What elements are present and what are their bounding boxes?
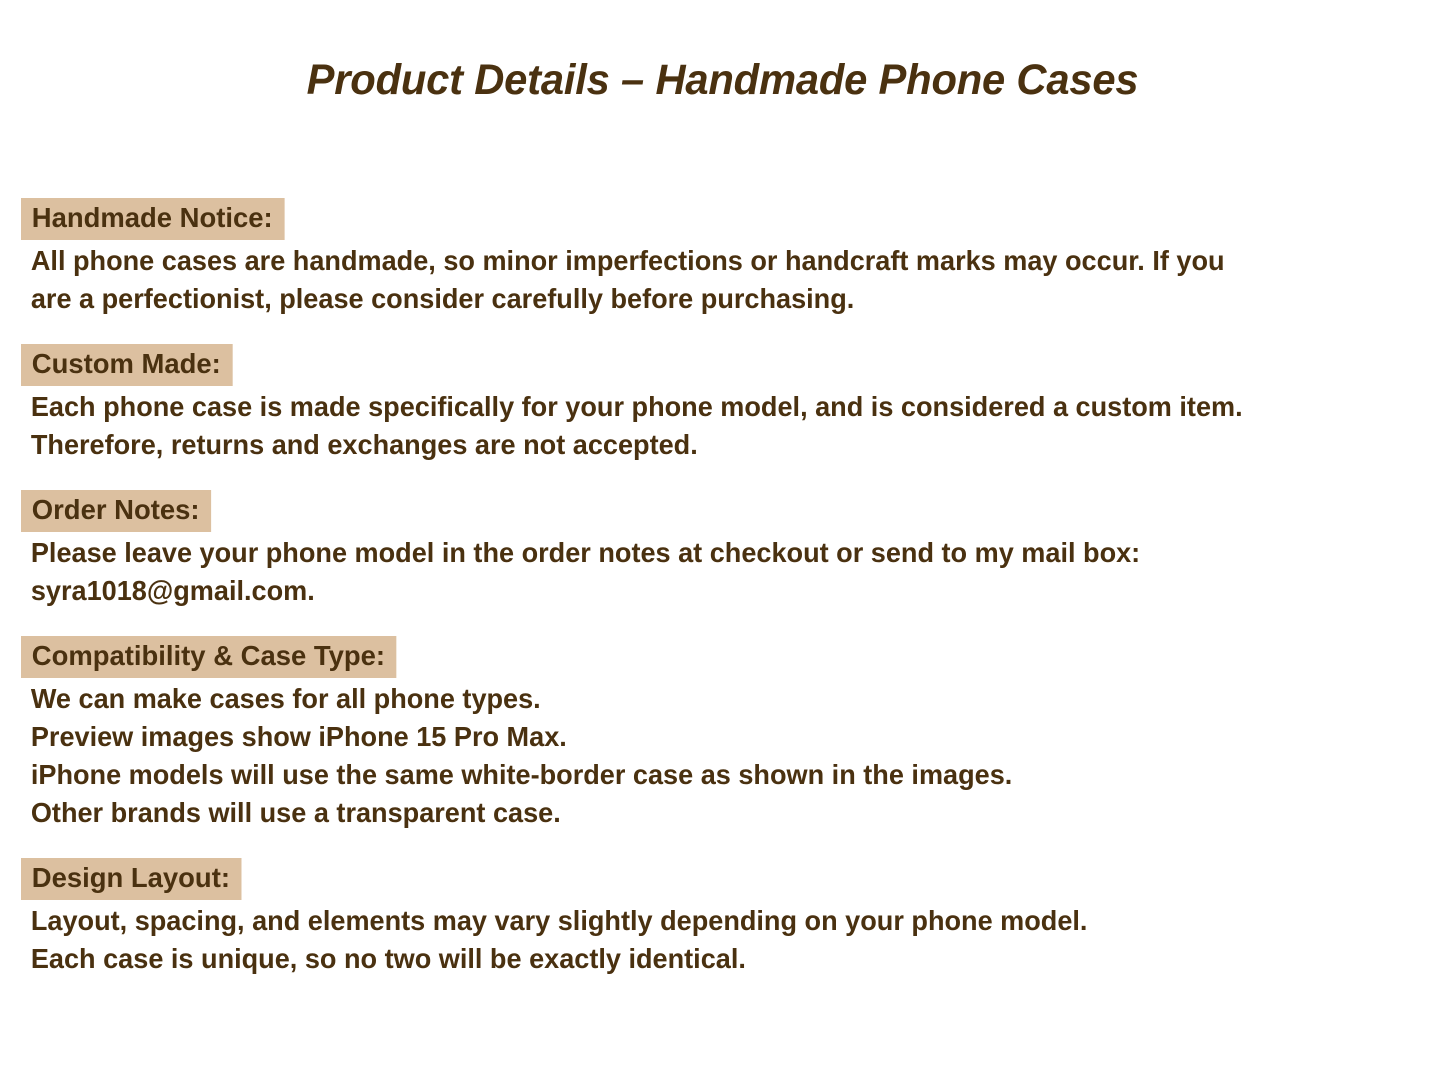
section-design-layout: Design Layout: Layout, spacing, and elem… bbox=[21, 858, 1441, 978]
contact-email-line: syra1018@gmail.com. bbox=[31, 572, 1420, 610]
body-line: Each phone case is made specifically for… bbox=[31, 388, 1420, 426]
body-line: Other brands will use a transparent case… bbox=[31, 794, 1420, 832]
body-line: We can make cases for all phone types. bbox=[31, 680, 1420, 718]
section-body-custom-made: Each phone case is made specifically for… bbox=[21, 388, 1420, 464]
section-body-handmade-notice: All phone cases are handmade, so minor i… bbox=[21, 242, 1420, 318]
section-header-handmade-notice: Handmade Notice: bbox=[21, 198, 284, 240]
section-header-custom-made: Custom Made: bbox=[21, 344, 233, 386]
section-body-compatibility-case-type: We can make cases for all phone types. P… bbox=[21, 680, 1420, 832]
body-line: Preview images show iPhone 15 Pro Max. bbox=[31, 718, 1420, 756]
section-compatibility-case-type: Compatibility & Case Type: We can make c… bbox=[21, 636, 1441, 832]
body-line: Therefore, returns and exchanges are not… bbox=[31, 426, 1420, 464]
section-body-design-layout: Layout, spacing, and elements may vary s… bbox=[21, 902, 1420, 978]
section-body-order-notes: Please leave your phone model in the ord… bbox=[21, 534, 1420, 610]
section-handmade-notice: Handmade Notice: All phone cases are han… bbox=[21, 198, 1441, 318]
body-line: Each case is unique, so no two will be e… bbox=[31, 940, 1420, 978]
body-line: iPhone models will use the same white-bo… bbox=[31, 756, 1420, 794]
sections-container: Handmade Notice: All phone cases are han… bbox=[21, 198, 1441, 978]
section-header-design-layout: Design Layout: bbox=[21, 858, 242, 900]
body-line: Please leave your phone model in the ord… bbox=[31, 534, 1420, 572]
section-header-compatibility-case-type: Compatibility & Case Type: bbox=[21, 636, 397, 678]
section-order-notes: Order Notes: Please leave your phone mod… bbox=[21, 490, 1441, 610]
product-details-page: Product Details – Handmade Phone Cases H… bbox=[0, 0, 1445, 1086]
page-title: Product Details – Handmade Phone Cases bbox=[22, 56, 1424, 105]
section-header-order-notes: Order Notes: bbox=[21, 490, 211, 532]
body-line: Layout, spacing, and elements may vary s… bbox=[31, 902, 1420, 940]
body-line: All phone cases are handmade, so minor i… bbox=[31, 242, 1420, 280]
section-custom-made: Custom Made: Each phone case is made spe… bbox=[21, 344, 1441, 464]
body-line: are a perfectionist, please consider car… bbox=[31, 280, 1420, 318]
